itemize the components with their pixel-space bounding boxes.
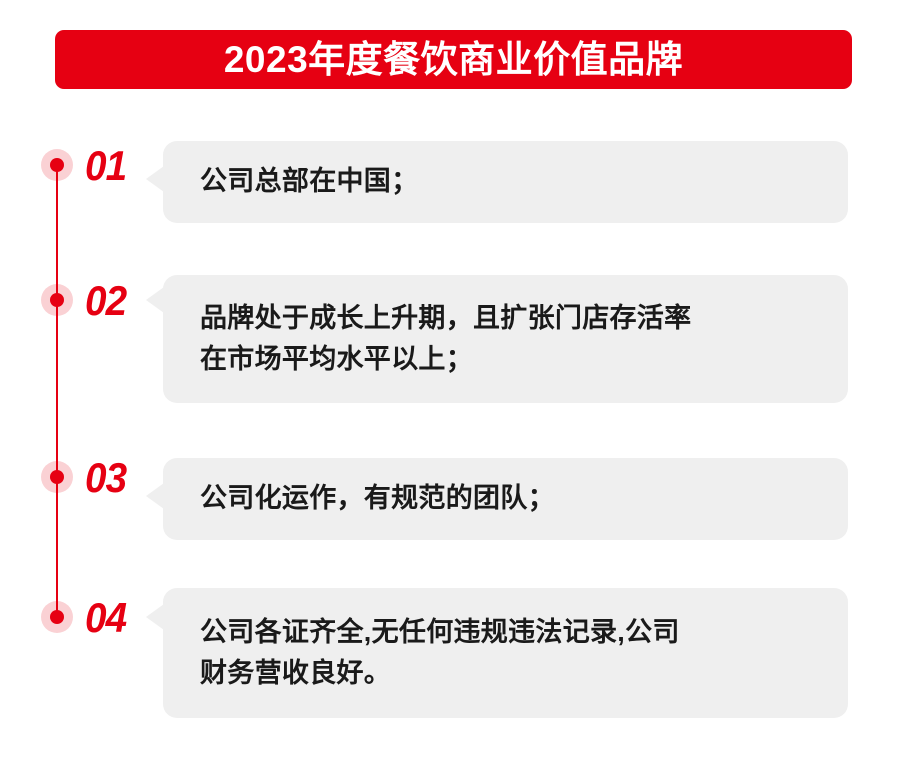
page-title: 2023年度餐饮商业价值品牌 bbox=[224, 41, 683, 78]
timeline-number-03: 03 bbox=[85, 457, 126, 499]
timeline-number-02: 02 bbox=[85, 280, 126, 322]
timeline-dot-03 bbox=[41, 461, 73, 493]
title-banner: 2023年度餐饮商业价值品牌 bbox=[55, 30, 852, 89]
card-notch-icon bbox=[146, 287, 164, 313]
infographic-page: 2023年度餐饮商业价值品牌 01 公司总部在中国； 02 品牌处于成长上升期，… bbox=[0, 0, 900, 770]
timeline-card-text-01: 公司总部在中国； bbox=[163, 161, 442, 202]
timeline-dot-01 bbox=[41, 149, 73, 181]
timeline-card-03[interactable]: 公司化运作，有规范的团队； bbox=[163, 458, 848, 540]
timeline-dot-04 bbox=[41, 601, 73, 633]
timeline-card-text-03: 公司化运作，有规范的团队； bbox=[163, 478, 579, 519]
timeline-dot-02 bbox=[41, 284, 73, 316]
timeline-card-02[interactable]: 品牌处于成长上升期，且扩张门店存活率 在市场平均水平以上； bbox=[163, 275, 848, 403]
timeline-card-text-02: 品牌处于成长上升期，且扩张门店存活率 在市场平均水平以上； bbox=[163, 298, 715, 380]
card-notch-icon bbox=[146, 483, 164, 509]
timeline-number-04: 04 bbox=[85, 597, 126, 639]
timeline-rail bbox=[56, 165, 58, 617]
card-notch-icon bbox=[146, 166, 164, 192]
timeline-number-01: 01 bbox=[85, 145, 126, 187]
timeline-card-text-04: 公司各证齐全,无任何违规违法记录,公司 财务营收良好。 bbox=[163, 612, 704, 694]
card-notch-icon bbox=[146, 604, 164, 630]
timeline-card-01[interactable]: 公司总部在中国； bbox=[163, 141, 848, 223]
timeline-card-04[interactable]: 公司各证齐全,无任何违规违法记录,公司 财务营收良好。 bbox=[163, 588, 848, 718]
